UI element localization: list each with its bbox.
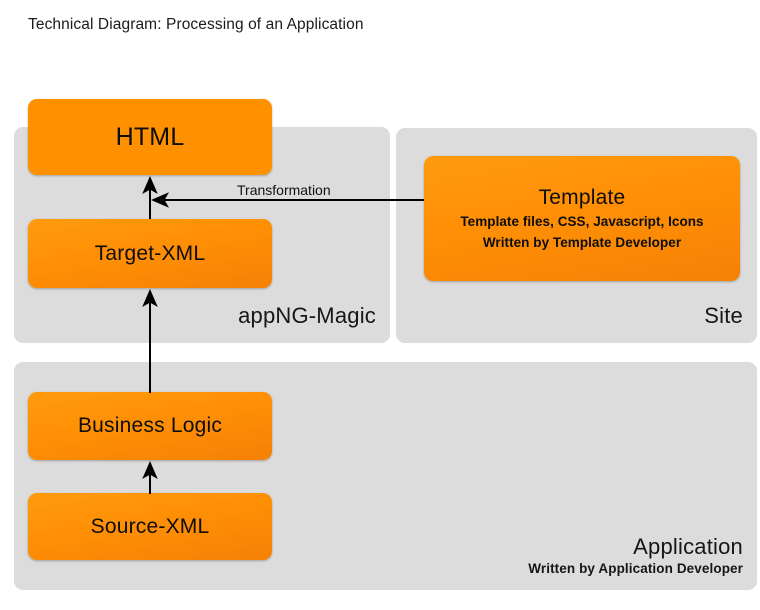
- node-html[interactable]: HTML: [28, 99, 272, 175]
- panel-label-site-text: Site: [704, 303, 743, 329]
- node-business-logic[interactable]: Business Logic: [28, 392, 272, 460]
- node-template-line2: Template files, CSS, Javascript, Icons: [460, 211, 703, 232]
- node-template-line3: Written by Template Developer: [483, 232, 681, 253]
- panel-label-appng-magic-text: appNG-Magic: [238, 303, 376, 329]
- panel-label-site: Site: [704, 303, 743, 329]
- panel-label-application-subtext: Written by Application Developer: [528, 560, 743, 578]
- node-html-label: HTML: [116, 122, 185, 152]
- panel-label-application-text: Application: [528, 534, 743, 560]
- page-title: Technical Diagram: Processing of an Appl…: [28, 16, 364, 34]
- node-target-xml[interactable]: Target-XML: [28, 219, 272, 288]
- panel-label-appng-magic: appNG-Magic: [238, 303, 376, 329]
- diagram-canvas: Technical Diagram: Processing of an Appl…: [0, 0, 760, 610]
- node-business-logic-label: Business Logic: [78, 413, 222, 439]
- node-template[interactable]: Template Template files, CSS, Javascript…: [424, 156, 740, 281]
- panel-label-application: Application Written by Application Devel…: [528, 534, 743, 578]
- node-source-xml[interactable]: Source-XML: [28, 493, 272, 560]
- node-template-label: Template: [539, 185, 626, 211]
- node-target-xml-label: Target-XML: [95, 241, 206, 267]
- edge-label-transformation: Transformation: [237, 182, 331, 198]
- node-source-xml-label: Source-XML: [91, 514, 210, 540]
